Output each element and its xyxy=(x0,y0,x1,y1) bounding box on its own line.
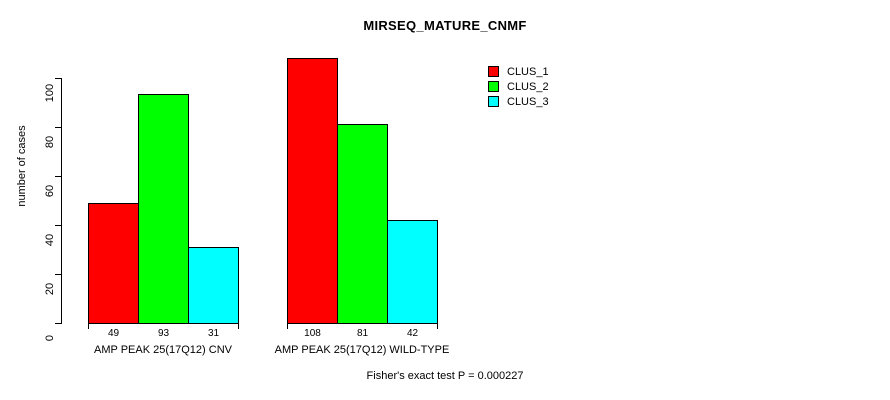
bar-value-group-2-clus-2: 81 xyxy=(337,328,388,339)
chart-title: MIRSEQ_MATURE_CNMF xyxy=(0,18,890,33)
y-axis-line xyxy=(61,78,62,324)
legend-swatch-clus-3 xyxy=(488,96,499,107)
y-tick-label-80: 80 xyxy=(44,127,56,157)
footer-note: Fisher's exact test P = 0.000227 xyxy=(0,370,890,382)
bar-group-2-clus-1[interactable] xyxy=(287,58,338,324)
bar-group-1-clus-3[interactable] xyxy=(188,247,239,324)
bar-value-group-1-clus-3: 31 xyxy=(188,328,239,339)
bar-value-group-2-clus-3: 42 xyxy=(387,328,438,339)
legend-label-clus-1: CLUS_1 xyxy=(507,66,549,78)
bar-group-2-clus-3[interactable] xyxy=(387,220,438,324)
y-tick-label-20: 20 xyxy=(44,274,56,304)
group-label-2: AMP PEAK 25(17Q12) WILD-TYPE xyxy=(227,344,497,356)
bar-value-group-2-clus-1: 108 xyxy=(287,328,338,339)
y-axis-title: number of cases xyxy=(16,106,28,226)
footer-note-text: Fisher's exact test P = 0.000227 xyxy=(367,370,524,382)
bar-value-group-1-clus-1: 49 xyxy=(88,328,139,339)
bar-group-2-clus-2[interactable] xyxy=(337,124,388,324)
bar-value-group-1-clus-2: 93 xyxy=(138,328,189,339)
legend-item-clus-1[interactable]: CLUS_1 xyxy=(488,64,549,79)
y-tick-label-60: 60 xyxy=(44,176,56,206)
legend: CLUS_1 CLUS_2 CLUS_3 xyxy=(488,64,549,109)
legend-label-clus-3: CLUS_3 xyxy=(507,96,549,108)
chart-title-text: MIRSEQ_MATURE_CNMF xyxy=(363,18,526,33)
legend-item-clus-3[interactable]: CLUS_3 xyxy=(488,94,549,109)
y-tick-label-100: 100 xyxy=(44,78,56,108)
bar-group-1-clus-1[interactable] xyxy=(88,203,139,324)
legend-item-clus-2[interactable]: CLUS_2 xyxy=(488,79,549,94)
y-tick-label-40: 40 xyxy=(44,225,56,255)
legend-swatch-clus-2 xyxy=(488,81,499,92)
legend-swatch-clus-1 xyxy=(488,66,499,77)
legend-label-clus-2: CLUS_2 xyxy=(507,81,549,93)
bar-group-1-clus-2[interactable] xyxy=(138,94,189,324)
bar-chart-figure: MIRSEQ_MATURE_CNMF 100 80 60 40 20 0 num… xyxy=(0,0,890,400)
